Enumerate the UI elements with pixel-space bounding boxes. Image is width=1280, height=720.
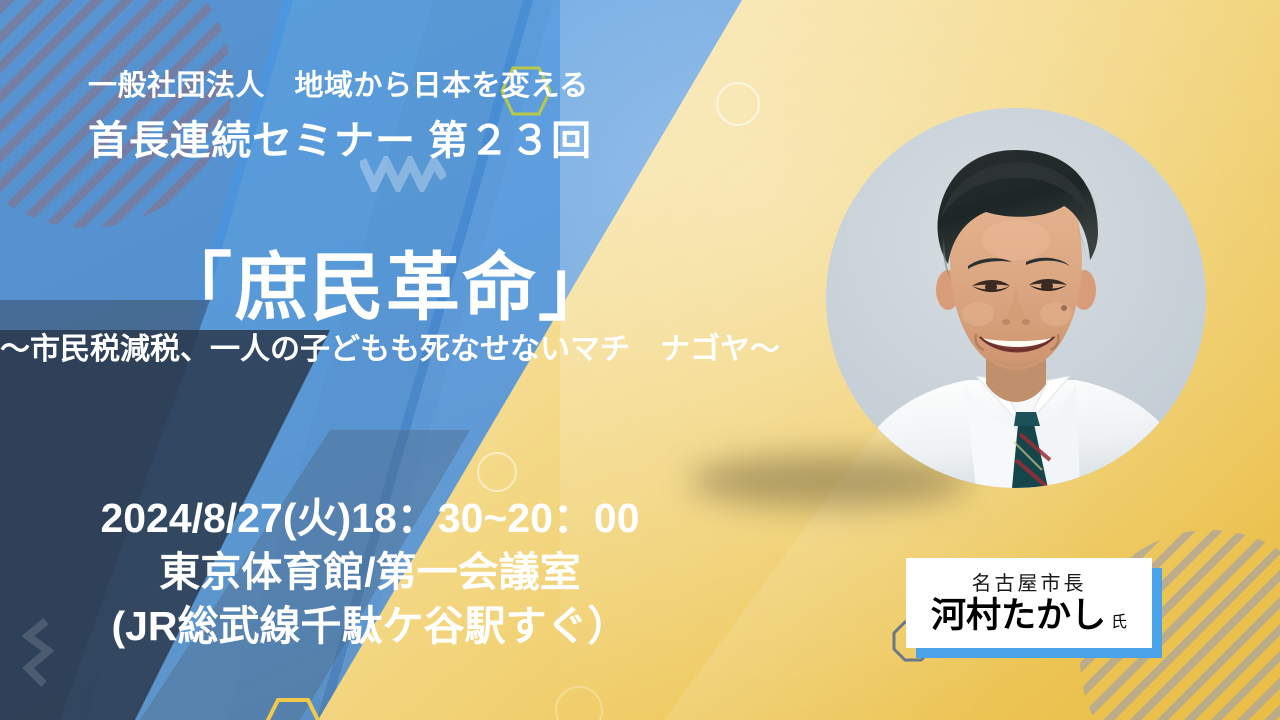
speaker-name-suffix: 氏 [1111,615,1127,631]
speaker-name-plate: 名古屋市長 河村たかし 氏 [906,558,1152,648]
speaker-portrait [826,108,1206,488]
organization-line: 一般社団法人 地域から日本を変える [88,62,589,104]
speaker-name-row: 河村たかし 氏 [931,598,1127,633]
page-title: 「庶民革命」 [0,228,772,335]
seminar-poster: 一般社団法人 地域から日本を変える 首長連続セミナー 第２３回 「庶民革命」 〜… [0,0,1280,720]
speaker-role: 名古屋市長 [972,574,1087,594]
event-datetime: 2024/8/27(火)18：30~20：00 [0,484,740,544]
event-venue: 東京体育館/第一会議室 [0,538,740,598]
seminar-series-line: 首長連続セミナー 第２３回 [88,108,592,166]
circle-outline-top-icon [716,82,760,126]
hexagon-yellow-bottom-icon [262,698,324,720]
speaker-name: 河村たかし [931,598,1106,633]
event-access: (JR総武線千駄ケ谷駅すぐ） [0,592,740,652]
page-subtitle: 〜市民税減税、一人の子どもも死なせないマチ ナゴヤ〜 [0,324,758,368]
